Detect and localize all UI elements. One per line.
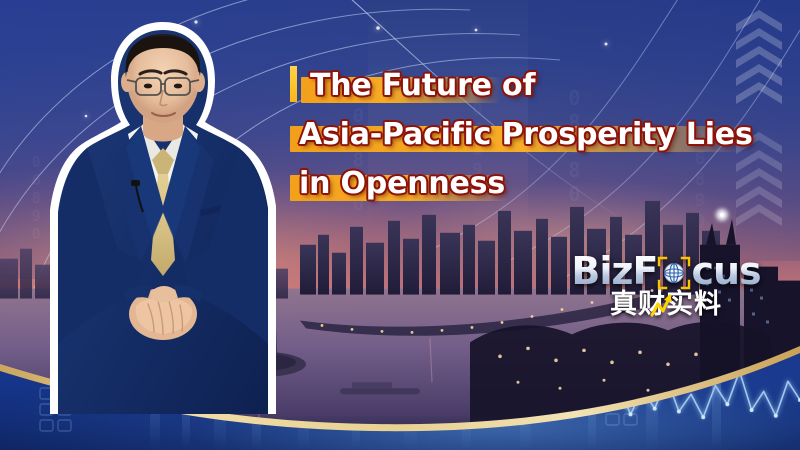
logo-brand-part-1: BizF [571, 252, 657, 290]
presenter [48, 14, 278, 414]
title-line-1: The Future of [310, 68, 535, 103]
title-line-2: Asia-Pacific Prosperity Lies [299, 117, 753, 152]
title-line-1-row: The Future of [290, 62, 760, 109]
logo-tagline: 真财实料 [610, 289, 722, 320]
title-accent-bar [290, 66, 297, 102]
logo-tagline-row: 真财实料 [556, 291, 776, 318]
title-line-2-row: Asia-Pacific Prosperity Lies [290, 111, 760, 158]
bizfocus-logo: BizF cus 真财实料 [556, 252, 776, 330]
title-line-3: in Openness [299, 166, 505, 201]
logo-wordmark: BizF cus [556, 252, 776, 290]
globe-focus-icon [657, 256, 691, 290]
page-title: The Future of Asia-Pacific Prosperity Li… [290, 62, 760, 209]
title-line-3-row: in Openness [290, 160, 760, 207]
title-card: 06890 08880 06890 08880 06890 [0, 0, 800, 450]
logo-brand-part-2: cus [691, 252, 760, 290]
